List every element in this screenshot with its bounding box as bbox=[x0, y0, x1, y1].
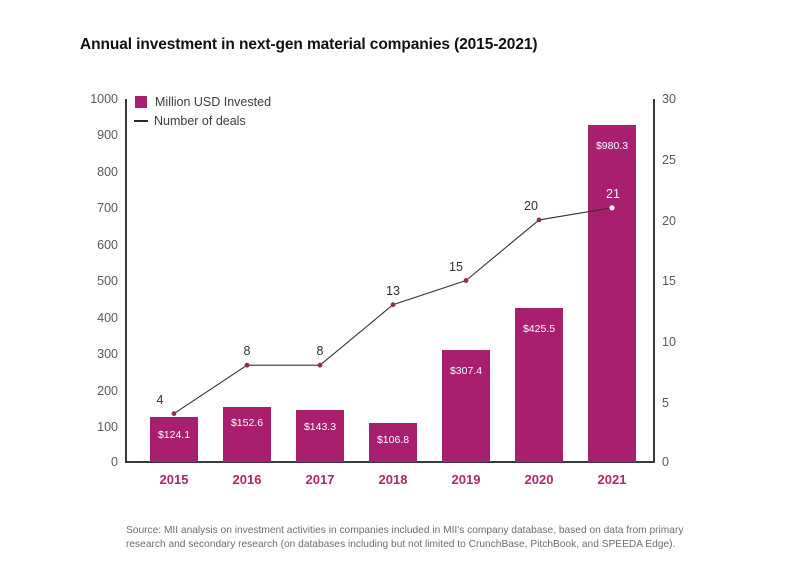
right-axis-tick: 20 bbox=[662, 214, 676, 228]
page-title: Annual investment in next-gen material c… bbox=[80, 36, 537, 54]
deals-value-label-2016: 8 bbox=[244, 344, 251, 358]
left-axis-tick: 500 bbox=[97, 274, 118, 288]
source-line-1: Source: MII analysis on investment activ… bbox=[126, 524, 748, 538]
x-label-2021: 2021 bbox=[598, 472, 627, 487]
deals-value-label-2021: 21 bbox=[606, 187, 620, 201]
x-label-2019: 2019 bbox=[452, 472, 481, 487]
source-line-2: research and secondary research (on data… bbox=[126, 538, 748, 552]
right-axis-tick-labels: 30 25 20 15 10 5 0 bbox=[662, 0, 702, 584]
left-axis-tick: 100 bbox=[97, 420, 118, 434]
deals-polyline bbox=[174, 208, 612, 414]
source-note: Source: MII analysis on investment activ… bbox=[126, 524, 748, 552]
left-axis-tick: 800 bbox=[97, 165, 118, 179]
x-label-2016: 2016 bbox=[233, 472, 262, 487]
deals-value-label-2020: 20 bbox=[524, 199, 538, 213]
left-axis-tick: 200 bbox=[97, 384, 118, 398]
deals-point-2017 bbox=[318, 363, 323, 368]
left-axis-tick: 900 bbox=[97, 128, 118, 142]
deals-point-2015 bbox=[172, 411, 177, 416]
right-axis-tick: 30 bbox=[662, 92, 676, 106]
left-axis-tick: 400 bbox=[97, 311, 118, 325]
deals-point-2020 bbox=[537, 218, 542, 223]
deals-point-2018 bbox=[391, 302, 396, 307]
deals-point-2019 bbox=[464, 278, 469, 283]
x-axis-category-labels: 2015 2016 2017 2018 2019 2020 2021 bbox=[126, 472, 654, 494]
right-axis-tick: 25 bbox=[662, 153, 676, 167]
x-label-2015: 2015 bbox=[160, 472, 189, 487]
deals-point-2016 bbox=[245, 363, 250, 368]
right-axis-tick: 0 bbox=[662, 455, 669, 469]
left-axis-tick-labels: 1000 900 800 700 600 500 400 300 200 100… bbox=[70, 0, 118, 584]
deals-value-label-2018: 13 bbox=[386, 284, 400, 298]
left-axis-tick: 0 bbox=[111, 455, 118, 469]
left-axis-tick: 1000 bbox=[90, 92, 118, 106]
deals-point-2021 bbox=[609, 205, 614, 210]
right-axis-tick: 5 bbox=[662, 396, 669, 410]
x-label-2017: 2017 bbox=[306, 472, 335, 487]
x-label-2018: 2018 bbox=[379, 472, 408, 487]
right-axis-tick: 15 bbox=[662, 274, 676, 288]
plot-area: $124.1 $152.6 $143.3 $106.8 $307.4 $425.… bbox=[126, 99, 654, 462]
left-axis-tick: 600 bbox=[97, 238, 118, 252]
chart-page: Annual investment in next-gen material c… bbox=[0, 0, 800, 584]
deals-value-label-2019: 15 bbox=[449, 260, 463, 274]
deals-value-label-2017: 8 bbox=[317, 344, 324, 358]
x-label-2020: 2020 bbox=[525, 472, 554, 487]
left-axis-tick: 300 bbox=[97, 347, 118, 361]
deals-value-label-2015: 4 bbox=[157, 393, 164, 407]
right-axis-tick: 10 bbox=[662, 335, 676, 349]
deals-line-series bbox=[126, 99, 654, 462]
left-axis-tick: 700 bbox=[97, 201, 118, 215]
